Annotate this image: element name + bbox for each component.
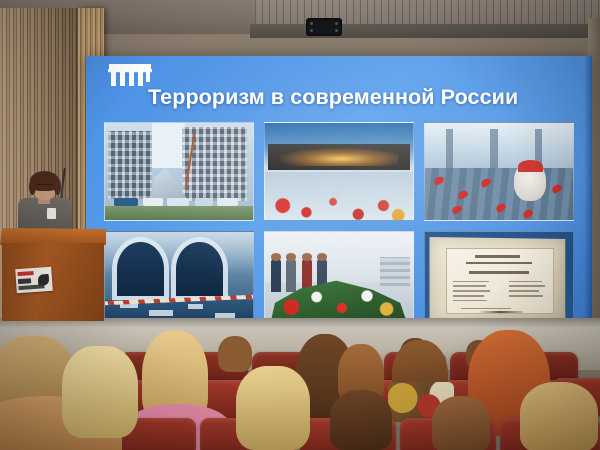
photo-memorial-plaque-with-names	[424, 231, 574, 330]
projection-slide: Терроризм в современной России	[86, 56, 592, 342]
ceiling-projector-mount	[306, 18, 342, 36]
slide-title: Терроризм в современной России	[148, 84, 588, 110]
audience-head	[218, 336, 252, 372]
ceiling-beam	[250, 24, 600, 38]
photo-station-platform-flowers-teddy-bear	[424, 122, 574, 221]
classical-building-columns-logo	[108, 62, 152, 88]
presentation-photo-scene: Терроризм в современной России	[0, 0, 600, 450]
presenter-at-podium	[14, 172, 74, 234]
wooden-lectern	[0, 228, 106, 320]
photo-people-at-flower-memorial	[264, 231, 414, 330]
photo-memorial-flowers-at-building-dusk	[264, 122, 414, 221]
photo-destroyed-apartment-building	[104, 122, 254, 221]
lectern-label-sign	[15, 267, 53, 293]
slide-photo-grid	[104, 122, 574, 330]
photo-metro-station-interior-damage	[104, 231, 254, 330]
